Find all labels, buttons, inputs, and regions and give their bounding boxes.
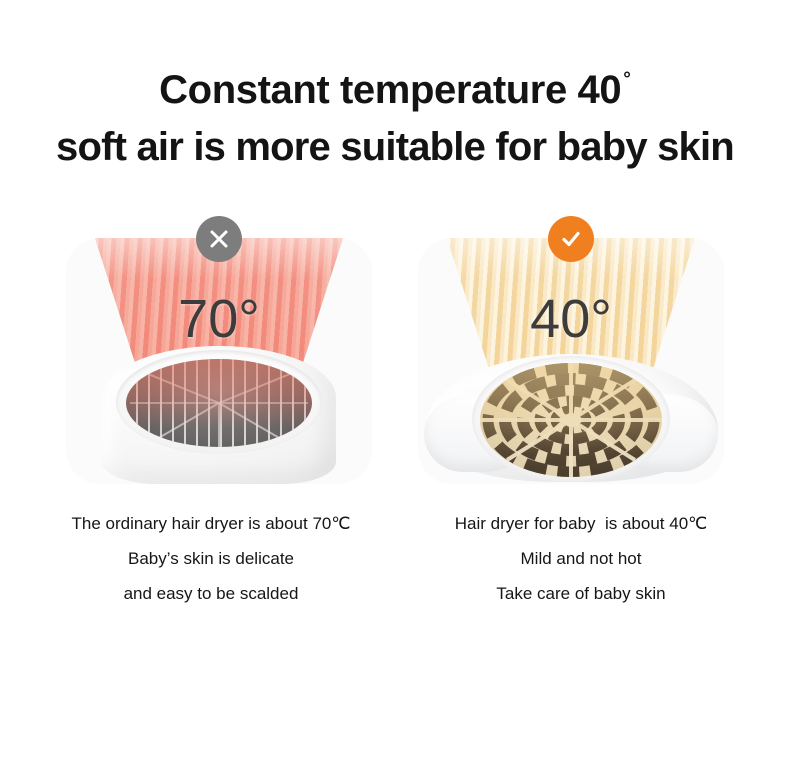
caption-baby: Hair dryer for baby is about 40℃ Mild an… bbox=[396, 506, 766, 611]
product-card-ordinary: 70° bbox=[66, 238, 372, 484]
temperature-label-baby: 40° bbox=[418, 292, 724, 346]
temperature-label-ordinary: 70° bbox=[66, 292, 372, 346]
check-icon bbox=[548, 216, 594, 262]
caption-ordinary: The ordinary hair dryer is about 70℃ Bab… bbox=[26, 506, 396, 611]
headline-line-1: Constant temperature 40° bbox=[0, 52, 790, 118]
caption-ordinary-line-1: The ordinary hair dryer is about 70℃ bbox=[26, 506, 396, 541]
comparison-row: 70° bbox=[0, 228, 790, 488]
caption-baby-line-1: Hair dryer for baby is about 40℃ bbox=[396, 506, 766, 541]
dryer-grille-ordinary bbox=[126, 359, 312, 447]
dryer-body-ordinary bbox=[102, 346, 336, 484]
captions-row: The ordinary hair dryer is about 70℃ Bab… bbox=[0, 506, 790, 626]
cross-icon bbox=[196, 216, 242, 262]
caption-ordinary-line-3: and easy to be scalded bbox=[26, 576, 396, 611]
headline-line-1-text: Constant temperature 40 bbox=[159, 68, 621, 112]
degree-symbol: ° bbox=[623, 69, 631, 90]
dryer-rim-baby bbox=[472, 356, 670, 482]
grille-heat-tint-ordinary bbox=[126, 359, 312, 447]
dryer-grille-baby bbox=[480, 363, 662, 477]
hair-dryer-ordinary bbox=[66, 334, 372, 484]
product-card-baby: 40° bbox=[418, 238, 724, 484]
headline: Constant temperature 40° soft air is mor… bbox=[0, 52, 790, 176]
caption-baby-line-3: Take care of baby skin bbox=[396, 576, 766, 611]
hair-dryer-baby bbox=[418, 334, 724, 484]
headline-line-2: soft air is more suitable for baby skin bbox=[0, 118, 790, 176]
dryer-body-baby bbox=[424, 354, 718, 482]
grille-warm-tint-baby bbox=[480, 363, 662, 477]
comparison-panel-ordinary: 70° bbox=[66, 228, 372, 484]
caption-baby-line-2: Mild and not hot bbox=[396, 541, 766, 576]
dryer-rim-ordinary bbox=[116, 350, 322, 454]
caption-ordinary-line-2: Baby’s skin is delicate bbox=[26, 541, 396, 576]
comparison-panel-baby: 40° bbox=[418, 228, 724, 484]
